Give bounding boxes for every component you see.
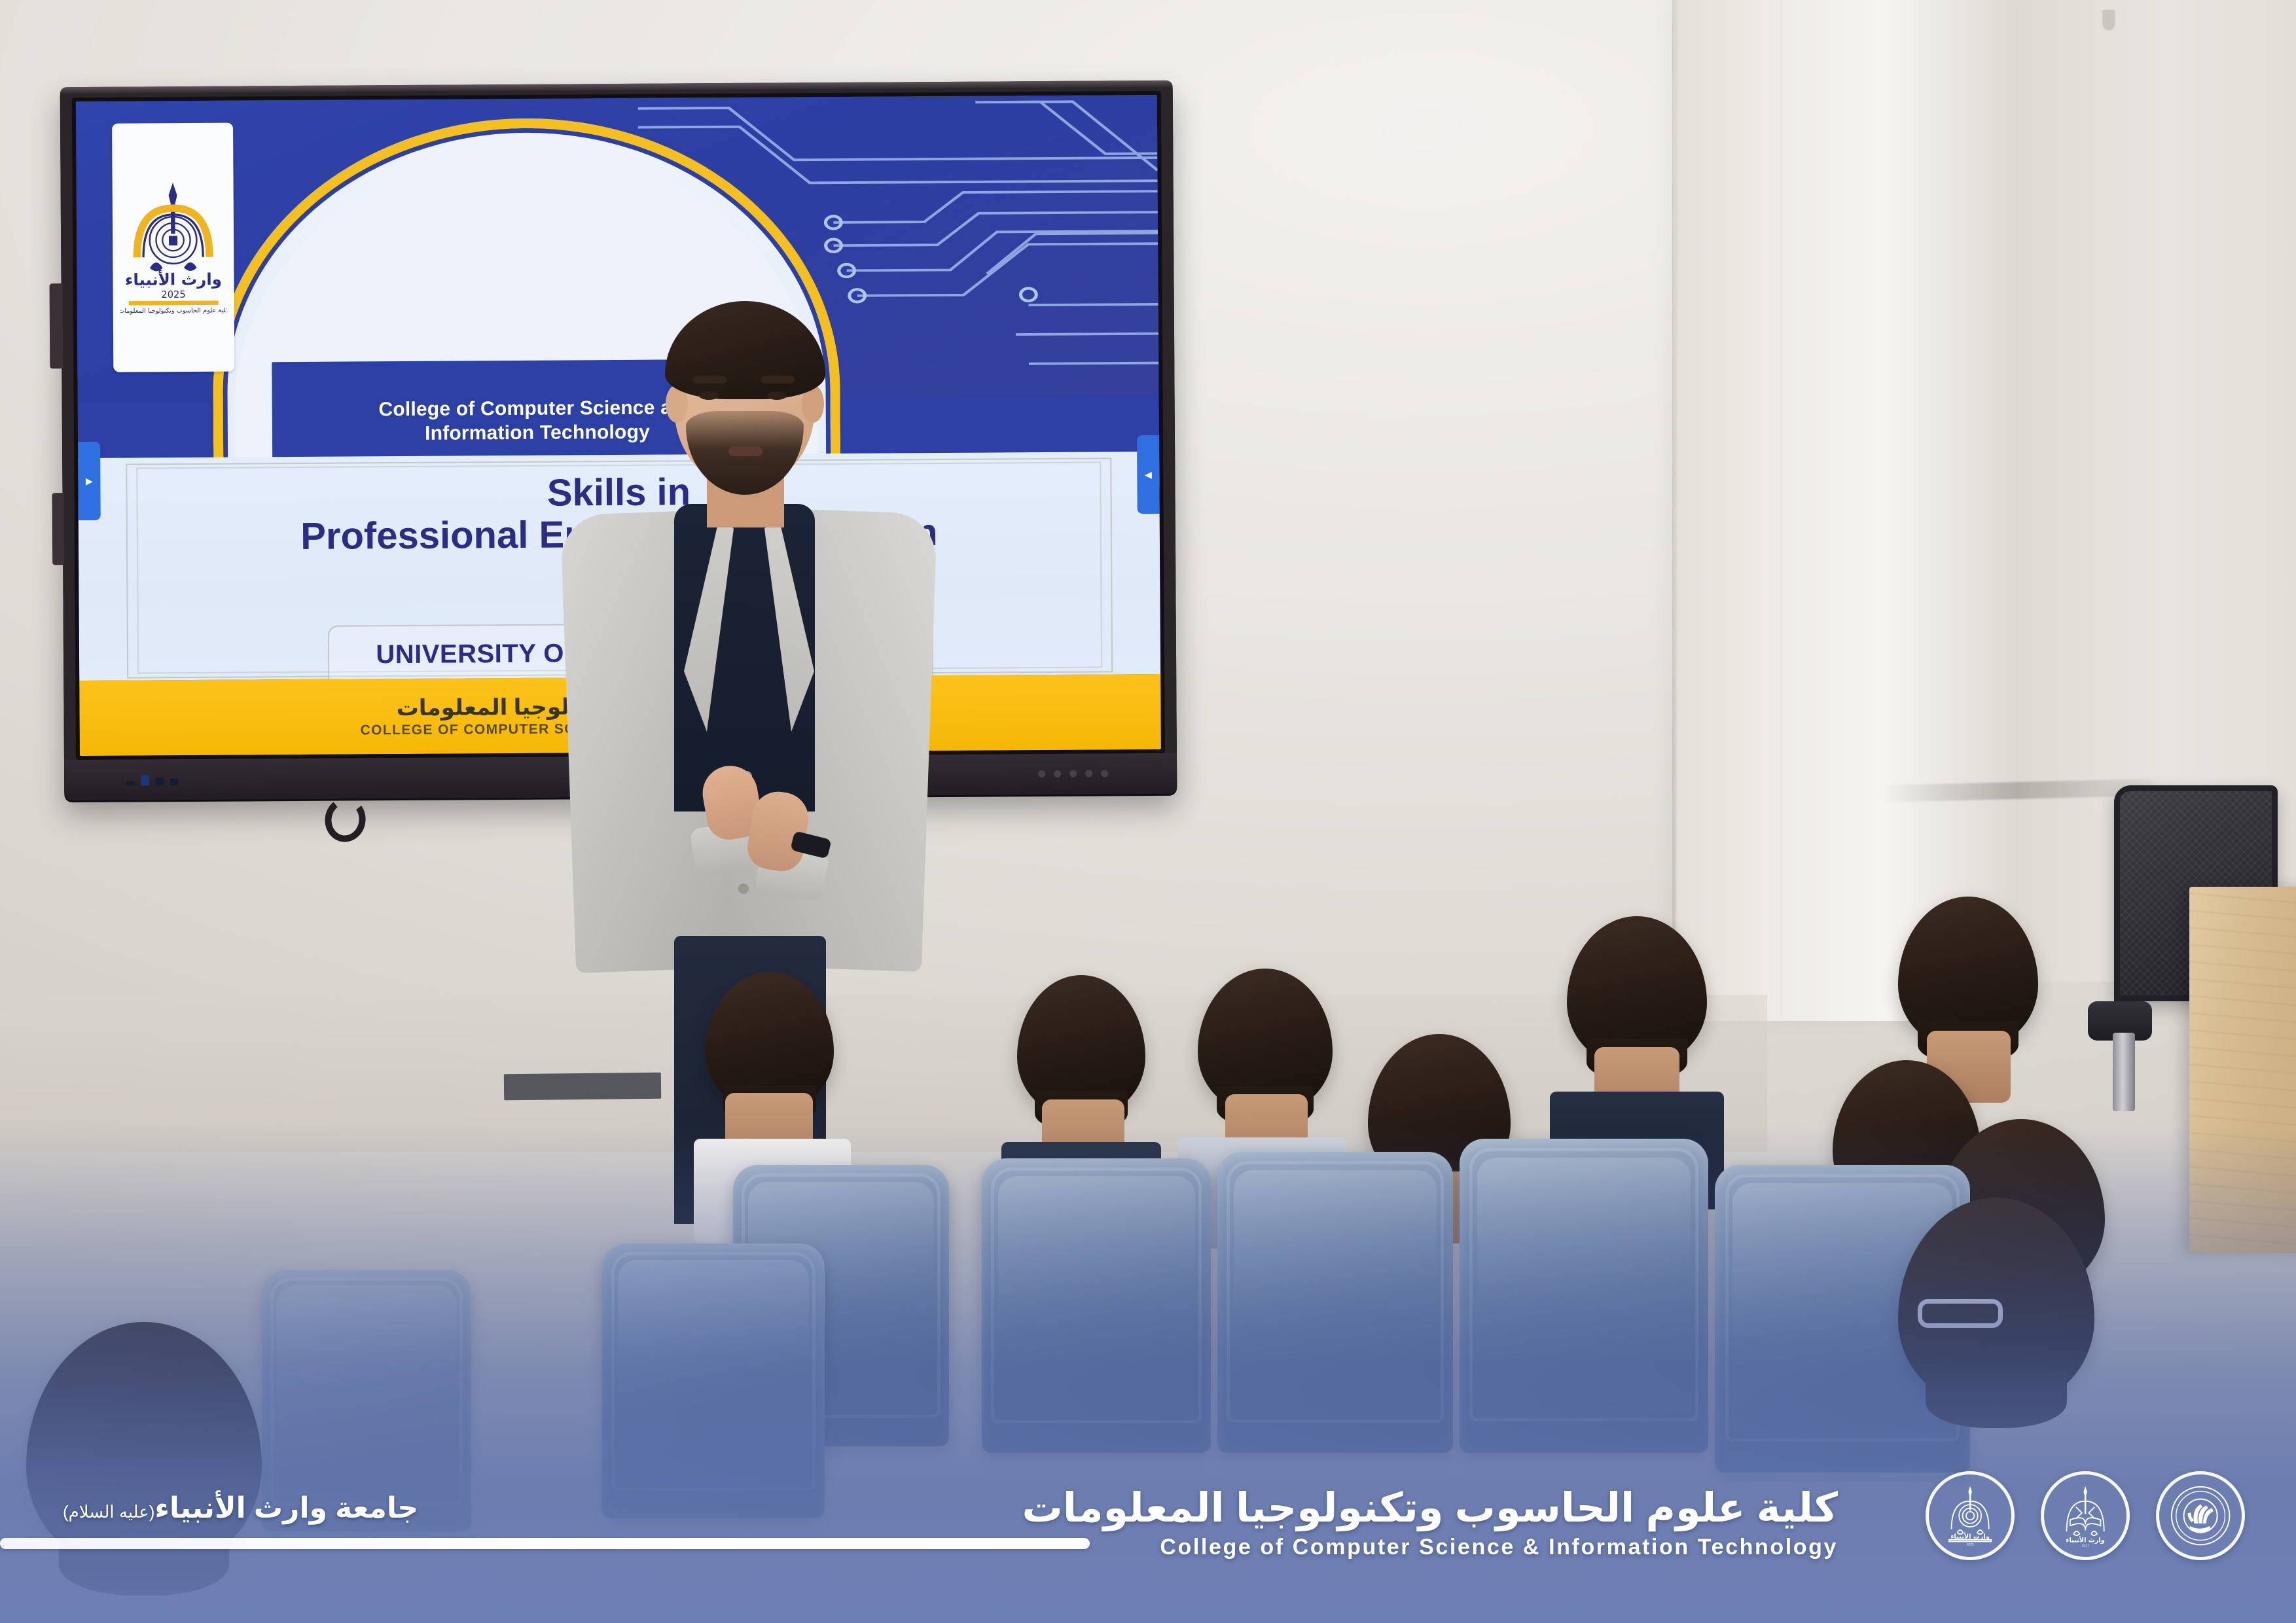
lecture-hall-photo: College of Computer Science and Informat… [0, 0, 2296, 1623]
wooden-podium [2189, 887, 2296, 1253]
university-college-emblem-icon: وارث الأنبياء 2025 [1938, 1484, 2002, 1548]
office-chair-post [2113, 1033, 2135, 1111]
footer-university-arabic-main: جامعة وارث الأنبياء [154, 1492, 418, 1524]
footer-logo-row: وارث الأنبياء 2025 وارث الأنبياء [1926, 1471, 2245, 1560]
footer-university-arabic: جامعة وارث الأنبياء(عليه السلام) [63, 1491, 418, 1525]
eyeglasses-icon [1918, 1299, 2003, 1328]
presenter-brow-left [692, 376, 726, 383]
footer-university-college-emblem: وارث الأنبياء 2025 [1926, 1471, 2015, 1560]
svg-text:2025: 2025 [1966, 1543, 1973, 1547]
page-footer: جامعة وارث الأنبياء(عليه السلام) كلية عل… [0, 1407, 2296, 1623]
svg-text:كلية علوم الحاسوب وتكنولوجيا ا: كلية علوم الحاسوب وتكنولوجيا المعلومات [119, 307, 227, 315]
footer-university-honorific: (عليه السلام) [63, 1502, 154, 1522]
presenter-eye-right [767, 391, 787, 400]
presenter-mouth [728, 446, 762, 456]
footer-ministry-emblem [2156, 1471, 2245, 1560]
display-led-indicators [1038, 770, 1108, 777]
display-wall-mount-lower [52, 493, 64, 565]
display-wall-mount-upper [50, 283, 63, 368]
warith-al-anbiyaa-emblem-icon: وارث الأنبياء 2025 كلية علوم الحاسوب وتك… [119, 137, 227, 357]
presenter-eye-left [699, 391, 719, 400]
svg-text:2025: 2025 [161, 289, 185, 300]
footer-college-block: كلية علوم الحاسوب وتكنولوجيا المعلومات C… [1022, 1486, 1838, 1560]
slide-university-logo: وارث الأنبياء 2025 كلية علوم الحاسوب وتك… [112, 123, 234, 372]
presenter-brow-right [761, 376, 795, 383]
footer-college-arabic: كلية علوم الحاسوب وتكنولوجيا المعلومات [1022, 1486, 1838, 1531]
svg-text:وارث الأنبياء: وارث الأنبياء [124, 269, 221, 289]
slide-nav-next-tab[interactable]: ▸ [78, 442, 101, 520]
display-port-cluster[interactable] [126, 775, 178, 785]
auditorium-seat [1460, 1139, 1708, 1453]
svg-text:وارث الأنبياء: وارث الأنبياء [2066, 1535, 2104, 1544]
university-emblem-icon: وارث الأنبياء 2017 [2053, 1484, 2117, 1548]
footer-college-english: College of Computer Science & Informatio… [1022, 1535, 1838, 1560]
wall-column-edge [1672, 0, 1679, 1060]
footer-divider-rule [0, 1538, 1090, 1549]
presenter-jacket-button-lower [738, 883, 749, 894]
wall-hook [2103, 10, 2115, 29]
slide-nav-prev-tab[interactable]: ◂ [1137, 435, 1160, 514]
footer-university-emblem: وارث الأنبياء 2017 [2041, 1471, 2130, 1560]
presenter-hair [665, 301, 825, 399]
svg-text:2017: 2017 [2081, 1544, 2089, 1548]
ministry-of-higher-education-icon [2168, 1484, 2233, 1548]
svg-text:وارث الأنبياء: وارث الأنبياء [1950, 1532, 1989, 1541]
wall-column [1676, 0, 2016, 1021]
